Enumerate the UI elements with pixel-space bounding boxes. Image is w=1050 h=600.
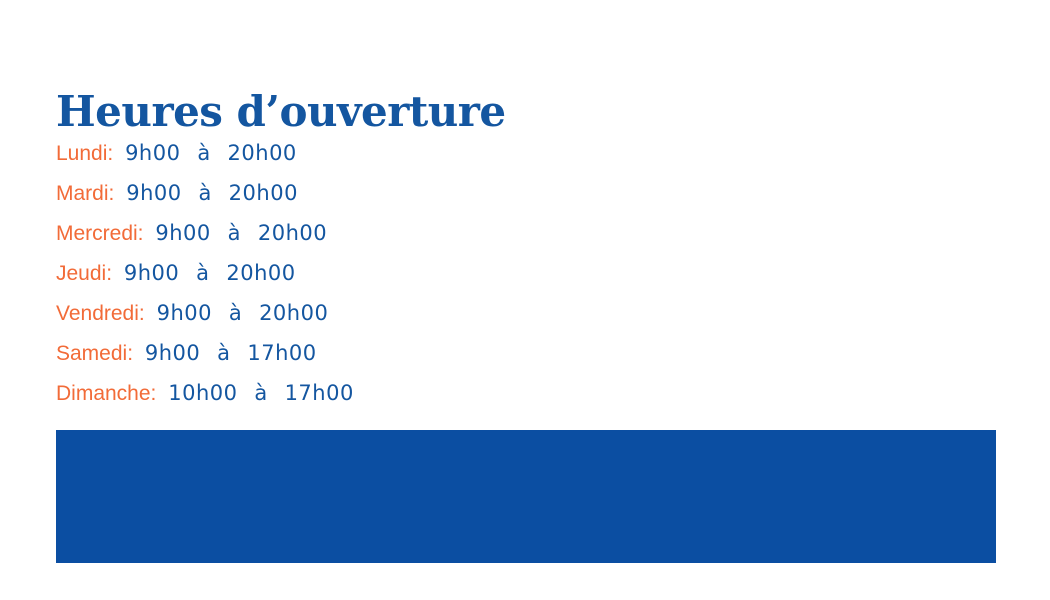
close-time: 17h00	[285, 381, 354, 405]
blue-content-block	[56, 430, 996, 563]
open-time: 10h00	[168, 381, 237, 405]
open-time: 9h00	[155, 221, 210, 245]
close-time: 17h00	[247, 341, 316, 365]
day-label: Vendredi:	[56, 302, 145, 325]
close-time: 20h00	[226, 261, 295, 285]
slide-canvas: Heures d’ouverture Lundi: 9h00 à 20h00 M…	[0, 0, 1050, 600]
time-separator: à	[224, 301, 247, 325]
list-item: Jeudi: 9h00 à 20h00	[56, 253, 616, 293]
day-label: Mardi:	[56, 182, 114, 205]
list-item: Mardi: 9h00 à 20h00	[56, 173, 616, 213]
day-label: Mercredi:	[56, 222, 144, 245]
open-time: 9h00	[157, 301, 212, 325]
time-separator: à	[192, 141, 215, 165]
close-time: 20h00	[228, 141, 297, 165]
close-time: 20h00	[259, 301, 328, 325]
open-time: 9h00	[124, 261, 179, 285]
day-label: Lundi:	[56, 142, 113, 165]
day-label: Dimanche:	[56, 382, 156, 405]
day-label: Jeudi:	[56, 262, 112, 285]
list-item: Lundi: 9h00 à 20h00	[56, 133, 616, 173]
open-time: 9h00	[125, 141, 180, 165]
time-separator: à	[191, 261, 214, 285]
time-separator: à	[193, 181, 216, 205]
time-separator: à	[212, 341, 235, 365]
open-time: 9h00	[145, 341, 200, 365]
list-item: Dimanche: 10h00 à 17h00	[56, 373, 616, 413]
close-time: 20h00	[229, 181, 298, 205]
open-time: 9h00	[126, 181, 181, 205]
opening-hours-list: Lundi: 9h00 à 20h00 Mardi: 9h00 à 20h00 …	[56, 133, 616, 413]
time-separator: à	[223, 221, 246, 245]
list-item: Mercredi: 9h00 à 20h00	[56, 213, 616, 253]
list-item: Samedi: 9h00 à 17h00	[56, 333, 616, 373]
list-item: Vendredi: 9h00 à 20h00	[56, 293, 616, 333]
page-title: Heures d’ouverture	[56, 86, 506, 138]
close-time: 20h00	[258, 221, 327, 245]
day-label: Samedi:	[56, 342, 133, 365]
time-separator: à	[249, 381, 272, 405]
